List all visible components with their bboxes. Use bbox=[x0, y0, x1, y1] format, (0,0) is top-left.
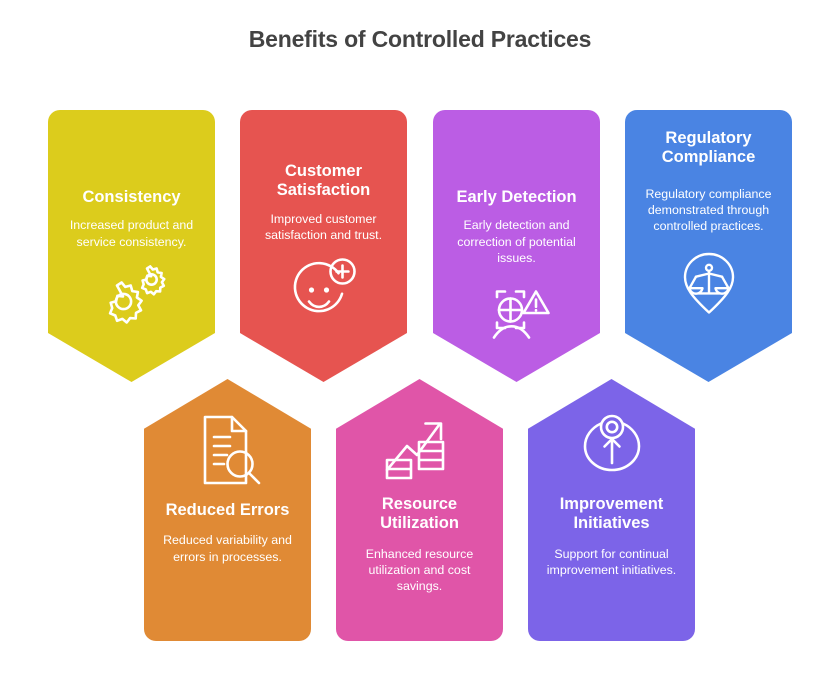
card-title: Reduced Errors bbox=[155, 501, 300, 520]
card-description: Early detection and correction of potent… bbox=[444, 217, 589, 266]
page-title: Benefits of Controlled Practices bbox=[0, 26, 840, 53]
card-row-bottom: Reduced Errors Reduced variability and e… bbox=[0, 379, 840, 641]
card-title: Improvement Initiatives bbox=[539, 495, 684, 534]
card-early-detection[interactable]: Early Detection Early detection and corr… bbox=[433, 110, 600, 382]
scan-warning-icon bbox=[444, 282, 589, 344]
card-title: Early Detection bbox=[444, 188, 589, 207]
card-description: Support for continual improvement initia… bbox=[539, 546, 684, 579]
card-improvement-initiatives[interactable]: Improvement Initiatives Support for cont… bbox=[528, 379, 695, 641]
card-reduced-errors[interactable]: Reduced Errors Reduced variability and e… bbox=[144, 379, 311, 641]
smiley-plus-icon bbox=[251, 257, 396, 323]
card-description: Regulatory compliance demonstrated throu… bbox=[636, 186, 781, 235]
card-resource-utilization[interactable]: Resource Utilization Enhanced resource u… bbox=[336, 379, 503, 641]
gears-icon bbox=[59, 262, 204, 324]
document-search-icon bbox=[155, 413, 300, 487]
card-title: Regulatory Compliance bbox=[636, 129, 781, 168]
card-title: Resource Utilization bbox=[347, 495, 492, 534]
scales-pin-icon bbox=[636, 251, 781, 315]
card-description: Reduced variability and errors in proces… bbox=[155, 532, 300, 565]
card-description: Improved customer satisfaction and trust… bbox=[251, 211, 396, 244]
card-row-top: Consistency Increased product and servic… bbox=[0, 110, 840, 382]
card-title: Consistency bbox=[59, 188, 204, 207]
card-title: Customer Satisfaction bbox=[251, 162, 396, 201]
card-description: Increased product and service consistenc… bbox=[59, 217, 204, 250]
infographic-canvas: Benefits of Controlled Practices Consist… bbox=[0, 0, 840, 673]
card-customer-satisfaction[interactable]: Customer Satisfaction Improved customer … bbox=[240, 110, 407, 382]
growth-coins-icon bbox=[347, 412, 492, 482]
card-consistency[interactable]: Consistency Increased product and servic… bbox=[48, 110, 215, 382]
card-regulatory-compliance[interactable]: Regulatory Compliance Regulatory complia… bbox=[625, 110, 792, 382]
target-arrow-up-icon bbox=[539, 411, 684, 481]
card-description: Enhanced resource utilization and cost s… bbox=[347, 546, 492, 595]
